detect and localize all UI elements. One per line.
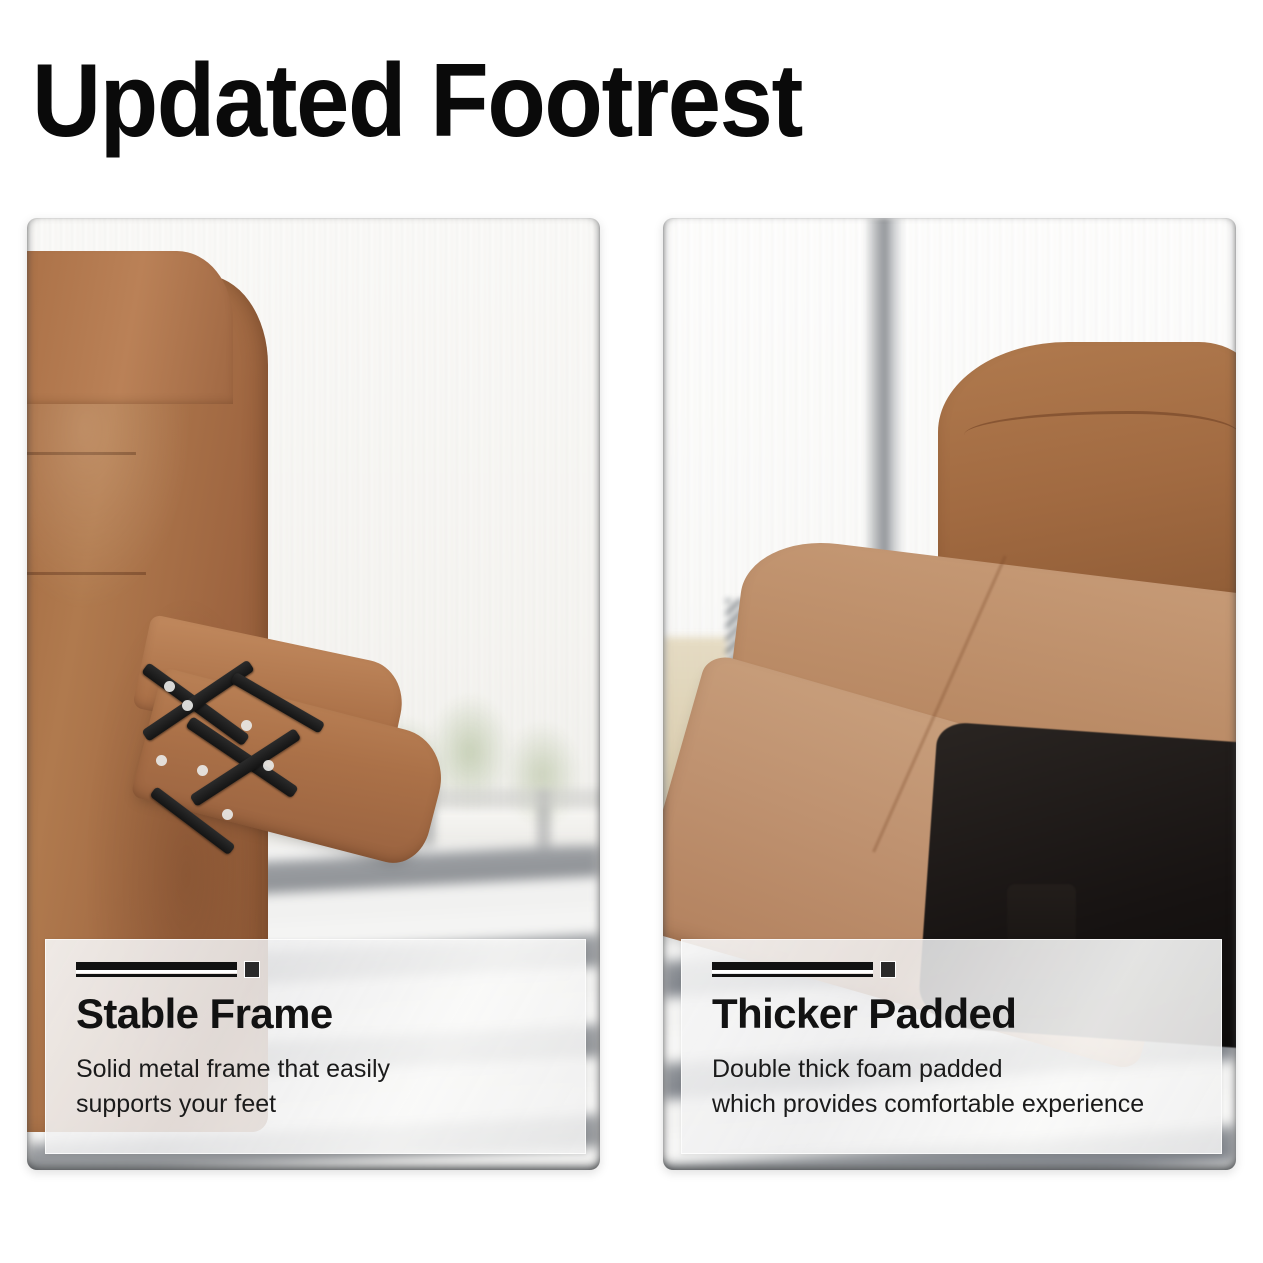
caption-description: Double thick foam padded which provides … [712, 1052, 1195, 1123]
caption-line-1: Solid metal frame that easily [76, 1052, 559, 1088]
accent-rule-bar [712, 962, 873, 973]
accent-rule [76, 960, 262, 978]
caption-description: Solid metal frame that easily supports y… [76, 1052, 559, 1123]
metal-scissor-mechanism [142, 656, 325, 904]
infographic-page: Updated Footrest [0, 0, 1263, 1263]
accent-rule-square [244, 961, 260, 978]
caption-card-stable-frame: Stable Frame Solid metal frame that easi… [45, 939, 586, 1154]
caption-card-thicker-padded: Thicker Padded Double thick foam padded … [681, 939, 1222, 1154]
accent-rule-bar-thin [712, 974, 873, 977]
leather-seam [27, 438, 146, 575]
recliner-headrest [27, 251, 233, 403]
accent-rule-bar [76, 962, 237, 973]
caption-line-2: which provides comfortable experience [712, 1087, 1195, 1123]
accent-rule-bar-thin [76, 974, 237, 977]
feature-panel-thicker-padded: Thicker Padded Double thick foam padded … [663, 218, 1236, 1170]
accent-rule-square [880, 961, 896, 978]
caption-line-1: Double thick foam padded [712, 1052, 1195, 1088]
caption-line-2: supports your feet [76, 1087, 559, 1123]
caption-heading: Stable Frame [76, 992, 559, 1036]
feature-panel-stable-frame: Stable Frame Solid metal frame that easi… [27, 218, 600, 1170]
page-title: Updated Footrest [32, 44, 802, 158]
accent-rule [712, 960, 898, 978]
caption-heading: Thicker Padded [712, 992, 1195, 1036]
